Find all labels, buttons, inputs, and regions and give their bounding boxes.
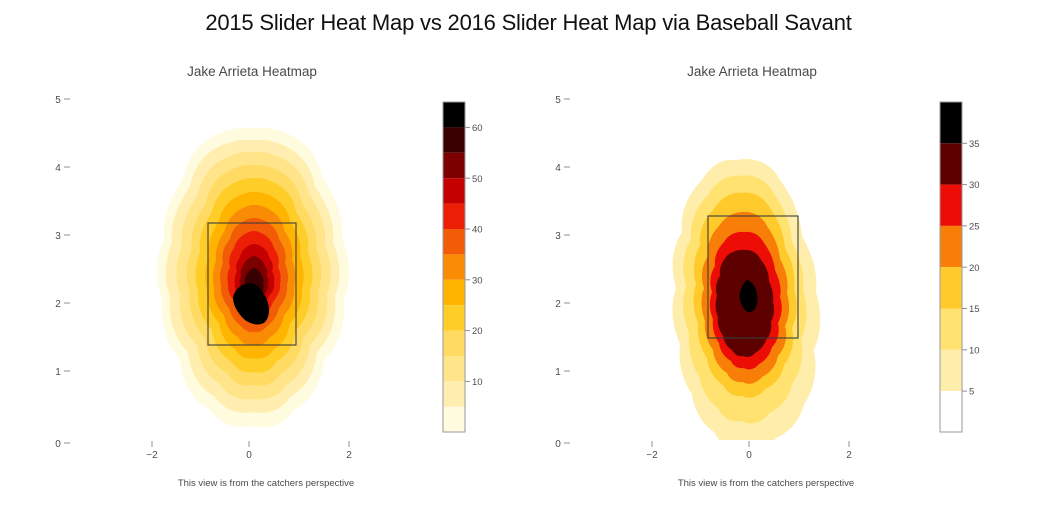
y-tick-label: 2 (55, 299, 61, 310)
colorbar-tick-label: 10 (472, 377, 483, 388)
y-tick-label: 3 (555, 231, 561, 242)
x-tick-label: 2 (346, 450, 352, 461)
x-tick-label: −2 (146, 450, 158, 461)
panel-footer-note: This view is from the catchers perspecti… (56, 478, 476, 489)
colorbar-tick-label: 50 (472, 174, 483, 185)
y-tick-label: 5 (555, 95, 561, 106)
y-tick-label: 0 (55, 439, 61, 450)
y-tick-label: 0 (555, 439, 561, 450)
colorbar-2016: 35 30 25 20 15 10 5 (940, 102, 980, 432)
colorbar-tick-label: 35 (969, 139, 980, 150)
y-tick-label: 2 (555, 299, 561, 310)
panel-footer-note: This view is from the catchers perspecti… (556, 478, 976, 489)
colorbar-tick-label: 10 (969, 345, 980, 356)
colorbar-tick-label: 40 (472, 225, 483, 236)
x-axis: −2 0 2 (646, 441, 852, 461)
contour-bands (157, 128, 349, 427)
y-tick-label: 4 (555, 163, 561, 174)
x-axis: −2 0 2 (146, 441, 352, 461)
colorbar-tick-label: 30 (969, 180, 980, 191)
x-tick-label: −2 (646, 450, 658, 461)
y-tick-label: 1 (555, 367, 561, 378)
y-tick-label: 5 (55, 95, 61, 106)
colorbar-tick-label: 20 (472, 326, 483, 337)
colorbar-tick-label: 30 (472, 275, 483, 286)
heatmap-plot-2015: 5 4 3 2 1 0 −2 0 2 (0, 0, 528, 511)
panel-2015-heatmap: Jake Arrieta Heatmap 5 4 (0, 0, 528, 511)
x-tick-label: 0 (246, 450, 252, 461)
y-tick-label: 4 (55, 163, 61, 174)
panel-2016-heatmap: Jake Arrieta Heatmap 5 4 3 2 1 0 (500, 0, 1028, 511)
x-tick-label: 0 (746, 450, 752, 461)
y-tick-label: 1 (55, 367, 61, 378)
colorbar-tick-label: 25 (969, 222, 980, 233)
x-tick-label: 2 (846, 450, 852, 461)
colorbar-tick-label: 15 (969, 304, 980, 315)
y-axis: 5 4 3 2 1 0 (55, 95, 70, 450)
colorbar-2015: 60 50 40 30 20 10 (443, 102, 483, 432)
colorbar-tick-label: 60 (472, 123, 483, 134)
colorbar-tick-label: 5 (969, 387, 974, 398)
heatmap-plot-2016: 5 4 3 2 1 0 −2 0 2 (500, 0, 1057, 511)
colorbar-tick-label: 20 (969, 263, 980, 274)
y-tick-label: 3 (55, 231, 61, 242)
y-axis: 5 4 3 2 1 0 (555, 95, 570, 450)
